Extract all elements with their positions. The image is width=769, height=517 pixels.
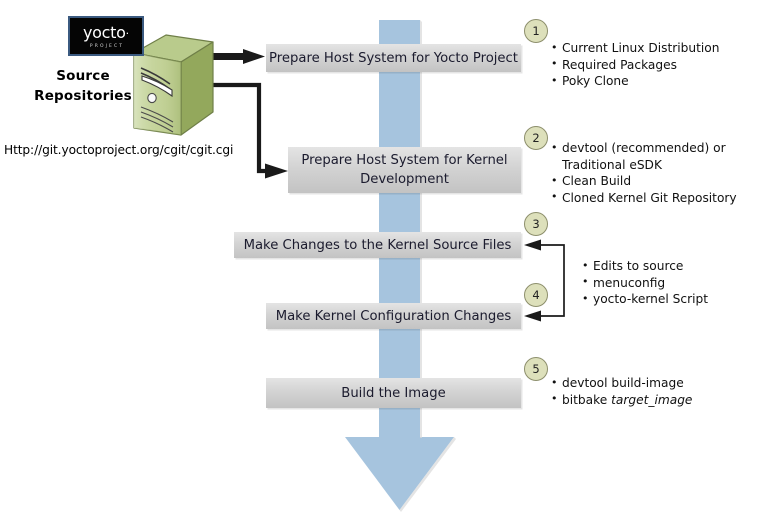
server-tower-icon [134,35,213,135]
yocto-project-logo: yocto· PROJECT [68,16,144,56]
list-item: Current Linux Distribution [551,40,719,57]
diagram-canvas: yocto· PROJECT Source Repositories Http:… [0,0,769,517]
list-item: menuconfig [582,275,708,292]
source-label-line2: Repositories [24,86,142,106]
list-item-continuation: Traditional eSDK [551,157,737,174]
step-badge-1-number: 1 [532,24,539,38]
list-item: Poky Clone [551,73,719,90]
step-5-bullet-list: devtool build-image bitbake target_image [551,375,692,408]
flow-box-step-2-label: Prepare Host System for Kernel Developme… [288,151,521,189]
list-item: Required Packages [551,57,719,74]
list-item: Cloned Kernel Git Repository [551,190,737,207]
step-badge-5-number: 5 [532,362,539,376]
list-item: devtool (recommended) or [551,140,737,157]
yocto-logo-dot: · [126,27,130,40]
flow-box-step-5-label: Build the Image [341,384,445,403]
step-badge-5: 5 [524,357,548,381]
step-badge-2-number: 2 [532,131,539,145]
main-flow-arrow [345,20,456,512]
list-item-command: bitbake [562,393,611,407]
flow-box-step-1[interactable]: Prepare Host System for Yocto Project [266,44,521,72]
source-repositories-label: Source Repositories [24,66,142,106]
flow-box-step-4-label: Make Kernel Configuration Changes [276,307,512,326]
flow-box-step-3-label: Make Changes to the Kernel Source Files [244,236,512,255]
flow-box-step-5[interactable]: Build the Image [266,378,521,408]
step-badge-1: 1 [524,19,548,43]
step-badge-4: 4 [524,283,548,307]
step-1-bullet-list: Current Linux Distribution Required Pack… [551,40,719,90]
flow-box-step-3[interactable]: Make Changes to the Kernel Source Files [234,232,521,258]
list-item-variable: target_image [611,393,692,407]
list-item: Edits to source [582,258,708,275]
flow-box-step-1-label: Prepare Host System for Yocto Project [269,49,518,68]
list-item: yocto-kernel Script [582,291,708,308]
connector-feedback-loop-3-4 [524,240,564,322]
flow-box-step-2[interactable]: Prepare Host System for Kernel Developme… [288,147,521,193]
step-badge-3: 3 [524,212,548,236]
connector-server-to-step2 [196,85,288,179]
yocto-logo-word: yocto [83,23,126,42]
step-badge-4-number: 4 [532,288,539,302]
yocto-logo-subtitle: PROJECT [90,43,124,50]
list-item: bitbake target_image [551,392,692,409]
steps-3-4-bullet-list: Edits to source menuconfig yocto-kernel … [582,258,708,308]
source-label-line1: Source [24,66,142,86]
connector-server-to-step1 [196,49,265,64]
flow-box-step-4[interactable]: Make Kernel Configuration Changes [266,303,521,329]
step-2-bullet-list: devtool (recommended) or Traditional eSD… [551,140,737,206]
list-item: devtool build-image [551,375,692,392]
step-badge-2: 2 [524,126,548,150]
list-item: Clean Build [551,173,737,190]
step-badge-3-number: 3 [532,217,539,231]
repository-url-text: Http://git.yoctoproject.org/cgit/cgit.cg… [4,143,233,157]
